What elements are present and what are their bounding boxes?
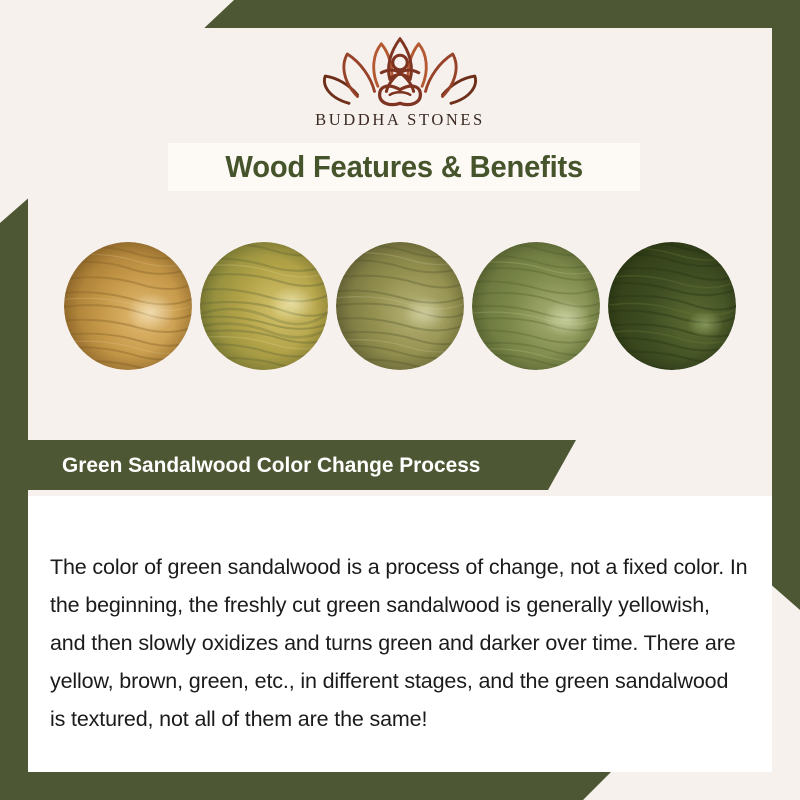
poster-canvas: BUDDHA STONES Wood Features & Benefits bbox=[0, 0, 800, 800]
frame-bar-right bbox=[768, 0, 800, 610]
bead-stage-4 bbox=[472, 242, 600, 370]
section-banner: Green Sandalwood Color Change Process bbox=[28, 440, 576, 490]
frame-bar-bottom bbox=[0, 768, 615, 800]
brand-name: BUDDHA STONES bbox=[315, 110, 485, 130]
headline-band: Wood Features & Benefits bbox=[168, 143, 640, 191]
bead-stage-3 bbox=[336, 242, 464, 370]
page-inner: BUDDHA STONES Wood Features & Benefits bbox=[28, 28, 772, 772]
section-banner-title: Green Sandalwood Color Change Process bbox=[35, 453, 481, 478]
bead-stage-5 bbox=[608, 242, 736, 370]
bead-stage-1 bbox=[64, 242, 192, 370]
body-panel: The color of green sandalwood is a proce… bbox=[28, 496, 772, 772]
brand-block: BUDDHA STONES bbox=[28, 28, 772, 144]
bead-row bbox=[28, 226, 772, 386]
body-paragraph: The color of green sandalwood is a proce… bbox=[50, 548, 748, 738]
page-title: Wood Features & Benefits bbox=[225, 149, 583, 185]
lotus-meditation-figure-icon bbox=[315, 30, 485, 112]
bead-stage-2 bbox=[200, 242, 328, 370]
